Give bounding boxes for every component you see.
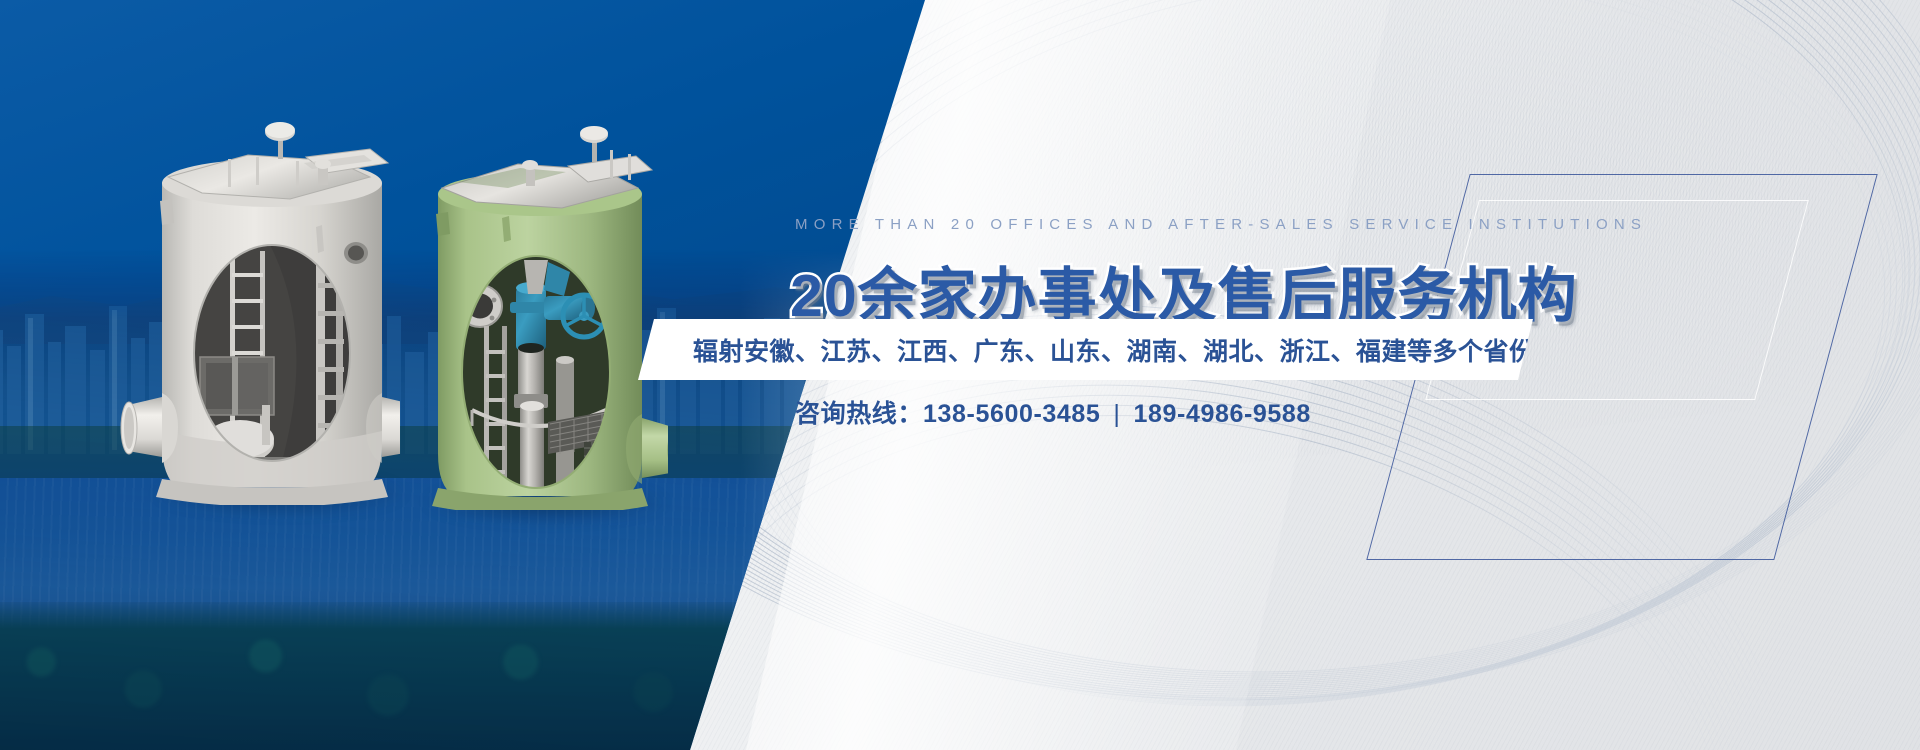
hotline-phone-1[interactable]: 138-5600-3485 bbox=[923, 400, 1100, 428]
text-content-column: MORE THAN 20 OFFICES AND AFTER-SALES SER… bbox=[795, 0, 1895, 750]
promotional-banner: MORE THAN 20 OFFICES AND AFTER-SALES SER… bbox=[0, 0, 1920, 750]
green-pump-station-cutaway bbox=[398, 110, 668, 510]
hotline-separator: | bbox=[1100, 400, 1133, 428]
hotline-phone-2[interactable]: 189-4986-9588 bbox=[1134, 400, 1311, 428]
gray-pump-station-cutaway bbox=[120, 105, 400, 505]
hotline-label: 咨询热线： bbox=[795, 400, 923, 428]
coverage-band: 辐射安徽、江苏、江西、广东、山东、湖南、湖北、浙江、福建等多个省份 bbox=[638, 319, 1533, 380]
hotline-row: 咨询热线：138-5600-3485|189-4986-9588 bbox=[795, 394, 1311, 430]
coverage-band-text: 辐射安徽、江苏、江西、广东、山东、湖南、湖北、浙江、福建等多个省份 bbox=[638, 319, 1533, 380]
english-eyebrow-text: MORE THAN 20 OFFICES AND AFTER-SALES SER… bbox=[795, 216, 1647, 233]
